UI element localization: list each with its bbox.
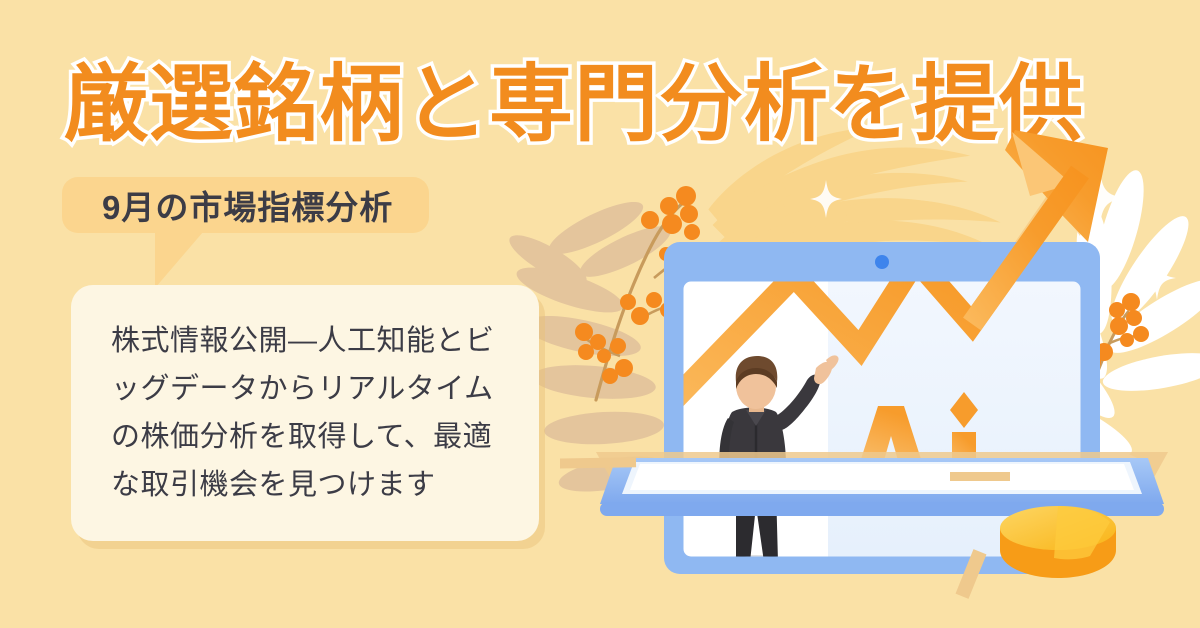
gold-coin-icon	[1000, 506, 1116, 578]
status-badge-label: 9月の市場指標分析	[102, 181, 393, 229]
description-text: 株式情報公開—人工知能とビッグデータからリアルタイムの株価分析を取得して、最適な…	[111, 317, 503, 509]
status-badge: 9月の市場指標分析	[62, 177, 429, 233]
description-card: 株式情報公開—人工知能とビッグデータからリアルタイムの株価分析を取得して、最適な…	[71, 285, 539, 541]
hero-illustration	[560, 110, 1200, 628]
promo-banner: 厳選銘柄と専門分析を提供 9月の市場指標分析 株式情報公開—人工知能とビッグデー…	[0, 0, 1200, 628]
speech-bubble-tail	[155, 232, 203, 288]
laptop-base	[596, 452, 1168, 516]
